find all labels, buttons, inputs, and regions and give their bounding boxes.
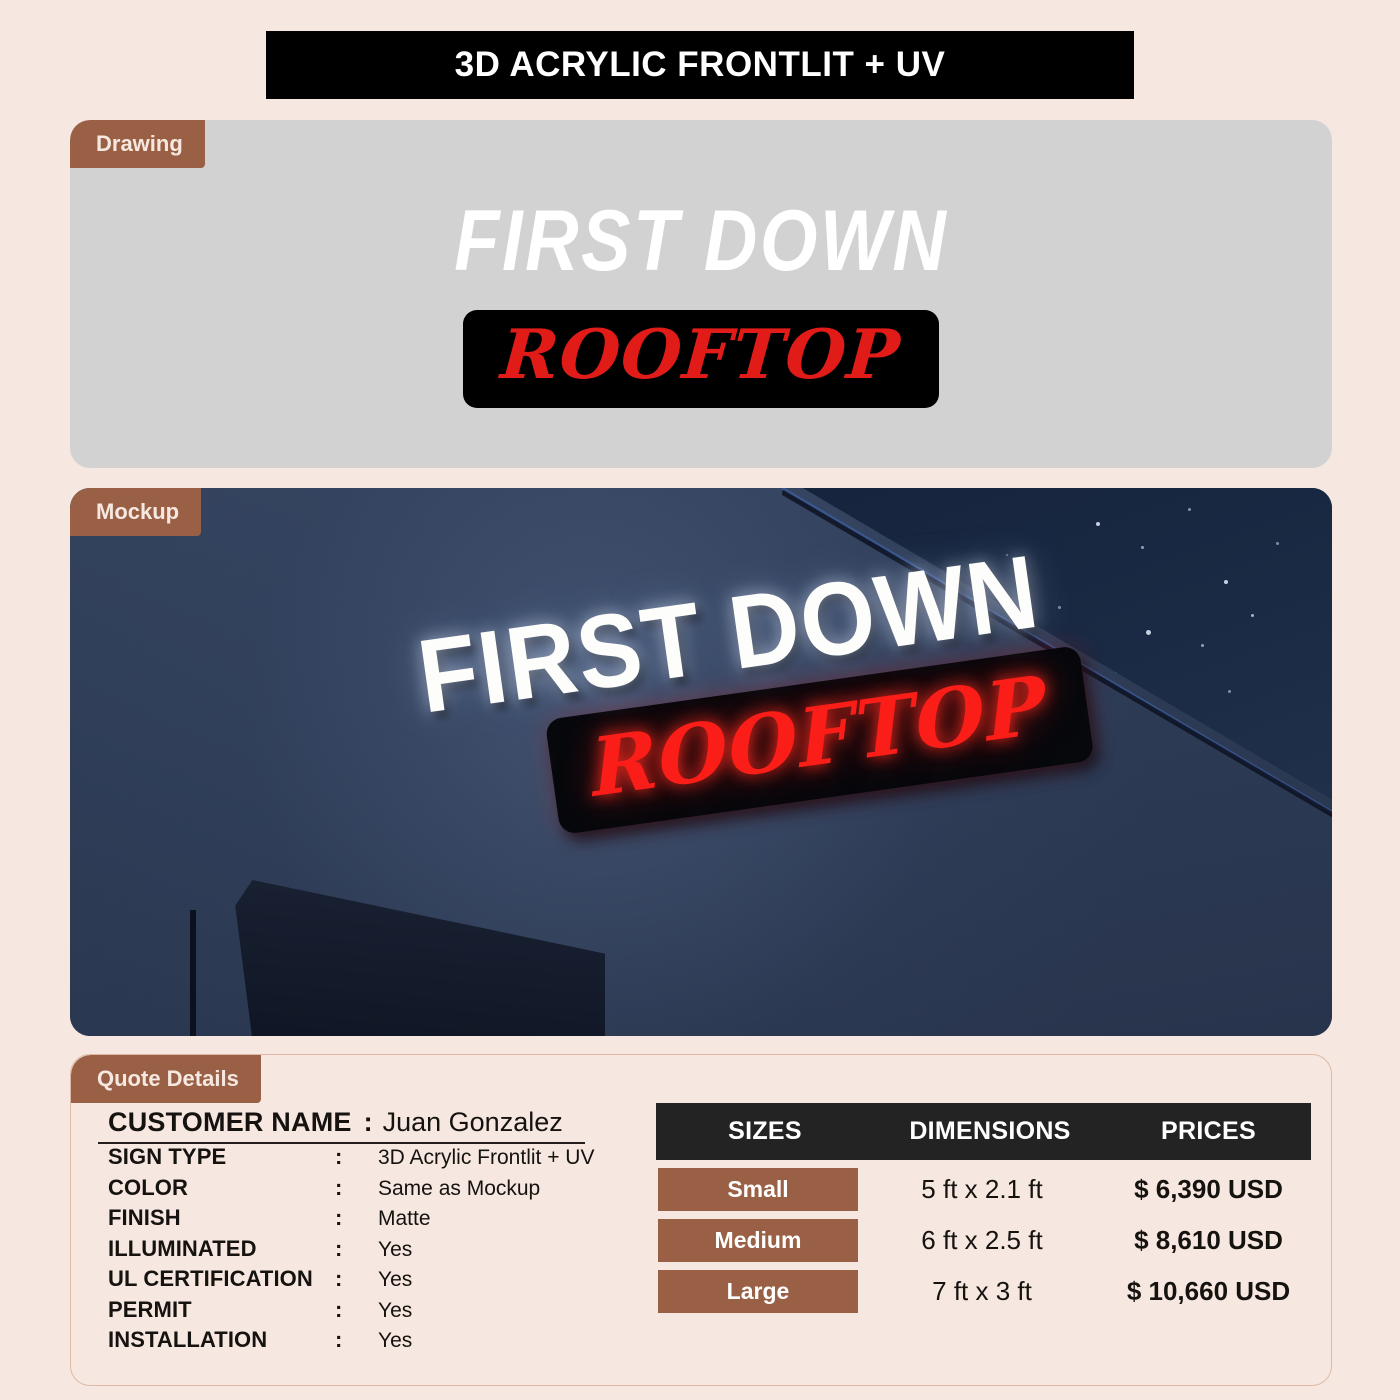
price-header-sizes: SIZES xyxy=(656,1117,874,1146)
detail-value: Yes xyxy=(378,1329,412,1353)
page-title-bar: 3D ACRYLIC FRONTLIT + UV xyxy=(266,31,1134,99)
price-value: $ 6,390 USD xyxy=(1106,1174,1311,1205)
quote-sheet: 3D ACRYLIC FRONTLIT + UV FIRST DOWN ROOF… xyxy=(0,0,1400,1400)
drawing-badge: Drawing xyxy=(70,120,205,168)
quote-details-panel: Quote Details CUSTOMER NAME : Juan Gonza… xyxy=(70,1054,1332,1386)
dimensions-value: 5 ft x 2.1 ft xyxy=(858,1174,1106,1205)
detail-label: UL CERTIFICATION xyxy=(108,1266,335,1292)
detail-value: 3D Acrylic Frontlit + UV xyxy=(378,1146,594,1170)
detail-row-installation: INSTALLATION : Yes xyxy=(98,1327,668,1358)
detail-label: INSTALLATION xyxy=(108,1327,335,1353)
price-value: $ 10,660 USD xyxy=(1106,1276,1311,1307)
size-label: Small xyxy=(727,1176,788,1203)
detail-colon: : xyxy=(335,1144,378,1170)
size-chip-medium: Medium xyxy=(658,1219,858,1262)
size-label: Medium xyxy=(715,1227,802,1254)
drawing-panel: FIRST DOWN ROOFTOP Drawing xyxy=(70,120,1332,468)
price-header-prices: PRICES xyxy=(1106,1117,1311,1146)
drawing-badge-label: Drawing xyxy=(96,131,183,157)
price-value: $ 8,610 USD xyxy=(1106,1225,1311,1256)
detail-label: PERMIT xyxy=(108,1297,335,1323)
dimensions-value: 7 ft x 3 ft xyxy=(858,1276,1106,1307)
detail-colon: : xyxy=(335,1175,378,1201)
detail-row-color: COLOR : Same as Mockup xyxy=(98,1175,668,1206)
detail-row-ul-certification: UL CERTIFICATION : Yes xyxy=(98,1266,668,1297)
dimensions-value: 6 ft x 2.5 ft xyxy=(858,1225,1106,1256)
quote-details-badge-label: Quote Details xyxy=(97,1066,239,1092)
table-row: Medium 6 ft x 2.5 ft $ 8,610 USD xyxy=(656,1219,1311,1262)
drawing-artwork: FIRST DOWN ROOFTOP xyxy=(70,120,1332,468)
price-table: SIZES DIMENSIONS PRICES Small 5 ft x 2.1… xyxy=(656,1103,1311,1313)
table-row: Large 7 ft x 3 ft $ 10,660 USD xyxy=(656,1270,1311,1313)
detail-row-sign-type: SIGN TYPE : 3D Acrylic Frontlit + UV xyxy=(98,1144,668,1175)
detail-label: COLOR xyxy=(108,1175,335,1201)
price-header-dimensions: DIMENSIONS xyxy=(874,1117,1106,1146)
size-chip-small: Small xyxy=(658,1168,858,1211)
detail-row-finish: FINISH : Matte xyxy=(98,1205,668,1236)
detail-value: Matte xyxy=(378,1207,431,1231)
customer-name-label: CUSTOMER NAME xyxy=(108,1107,352,1138)
detail-label: FINISH xyxy=(108,1205,335,1231)
customer-name-value: Juan Gonzalez xyxy=(383,1107,563,1138)
mockup-badge: Mockup xyxy=(70,488,201,536)
detail-row-permit: PERMIT : Yes xyxy=(98,1297,668,1328)
detail-value: Same as Mockup xyxy=(378,1177,540,1201)
detail-colon: : xyxy=(335,1236,378,1262)
detail-colon: : xyxy=(335,1327,378,1353)
awning-post xyxy=(190,910,196,1036)
drawing-sign-line2: ROOFTOP xyxy=(499,320,903,391)
size-chip-large: Large xyxy=(658,1270,858,1313)
customer-name-row: CUSTOMER NAME : Juan Gonzalez xyxy=(98,1107,585,1144)
drawing-sign-line1: FIRST DOWN xyxy=(454,198,948,284)
price-table-header: SIZES DIMENSIONS PRICES xyxy=(656,1103,1311,1160)
drawing-sign-plate: ROOFTOP xyxy=(463,310,938,407)
detail-colon: : xyxy=(335,1205,378,1231)
detail-value: Yes xyxy=(378,1238,412,1262)
quote-details-badge: Quote Details xyxy=(71,1055,261,1103)
detail-value: Yes xyxy=(378,1268,412,1292)
quote-body: CUSTOMER NAME : Juan Gonzalez SIGN TYPE … xyxy=(71,1103,1331,1385)
page-title: 3D ACRYLIC FRONTLIT + UV xyxy=(455,45,946,85)
size-label: Large xyxy=(727,1278,790,1305)
customer-name-colon: : xyxy=(364,1107,373,1138)
quote-details-list: CUSTOMER NAME : Juan Gonzalez SIGN TYPE … xyxy=(98,1107,668,1358)
detail-row-illuminated: ILLUMINATED : Yes xyxy=(98,1236,668,1267)
detail-value: Yes xyxy=(378,1299,412,1323)
detail-colon: : xyxy=(335,1266,378,1292)
detail-label: ILLUMINATED xyxy=(108,1236,335,1262)
mockup-panel: FIRST DOWN ROOFTOP Mockup xyxy=(70,488,1332,1036)
table-row: Small 5 ft x 2.1 ft $ 6,390 USD xyxy=(656,1168,1311,1211)
mockup-badge-label: Mockup xyxy=(96,499,179,525)
detail-colon: : xyxy=(335,1297,378,1323)
detail-label: SIGN TYPE xyxy=(108,1144,335,1170)
